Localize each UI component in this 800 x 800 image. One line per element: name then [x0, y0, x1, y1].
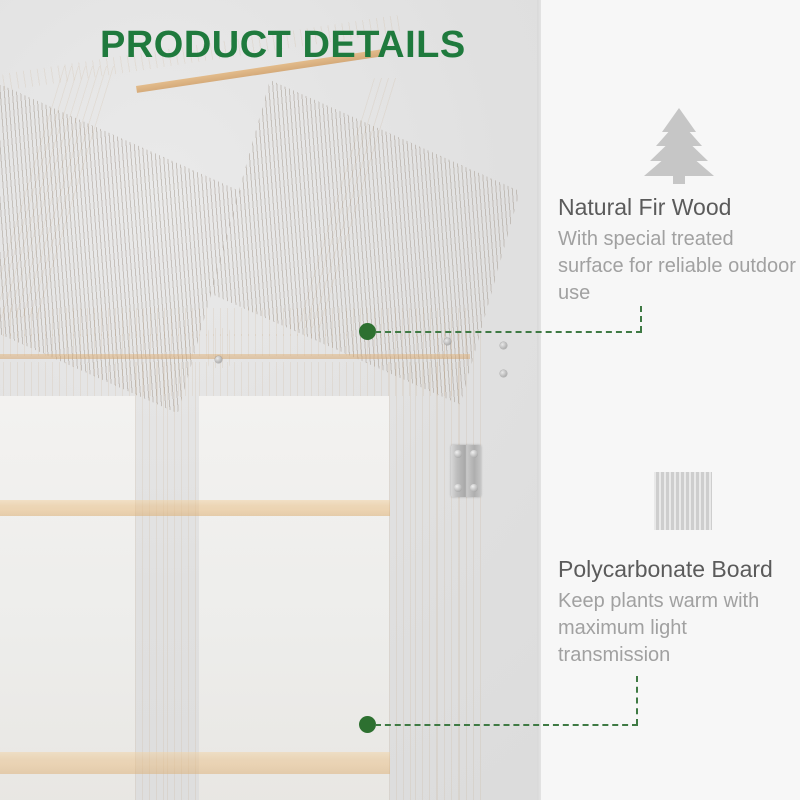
feature-icon-container	[558, 466, 798, 540]
frame-screw-upper	[500, 370, 507, 377]
door-glass-right	[199, 396, 389, 800]
product-details-infographic: PRODUCT DETAILS Natural Fir Wood With sp…	[0, 0, 800, 800]
door-stile-right-inner	[415, 362, 439, 800]
door-stile-center-right	[167, 362, 199, 800]
body-top-rail	[0, 334, 470, 356]
door-stile-right	[389, 362, 415, 800]
frame-screw-top	[500, 342, 507, 349]
interior-shelf-rail-lower	[0, 752, 390, 774]
corner-post-right-return	[459, 330, 481, 800]
callout-marker-wood	[359, 323, 376, 340]
feature-icon-container	[558, 104, 798, 178]
callout-leader-wood-horizontal	[375, 331, 642, 333]
door-hinge	[451, 445, 481, 497]
feature-title: Natural Fir Wood	[558, 192, 798, 222]
roof-glass-left	[0, 62, 240, 413]
callout-marker-board	[359, 716, 376, 733]
frame-screw-mid	[444, 338, 451, 345]
door-glass-left	[0, 396, 135, 800]
product-photo-panel	[0, 0, 537, 800]
interior-shelf-rail-upper	[0, 500, 390, 516]
greenhouse-roof	[0, 80, 537, 350]
polycarbonate-board-icon	[654, 472, 712, 530]
feature-block-polycarbonate-board: Polycarbonate Board Keep plants warm wit…	[558, 466, 798, 669]
feature-description: Keep plants warm with maximum light tran…	[558, 588, 798, 669]
callout-leader-board-vertical	[636, 676, 638, 725]
door-stile-center-left	[135, 362, 165, 800]
callout-leader-wood-vertical	[640, 306, 642, 332]
body-top-rail-shadow	[0, 354, 470, 359]
feature-description: With special treated surface for reliabl…	[558, 226, 798, 307]
callout-leader-board-horizontal	[375, 724, 638, 726]
fir-tree-icon	[642, 106, 716, 184]
greenhouse-product-image	[0, 80, 537, 800]
latch-screw	[215, 356, 222, 363]
feature-title: Polycarbonate Board	[558, 554, 798, 584]
page-title: PRODUCT DETAILS	[100, 24, 466, 67]
corner-post-right	[437, 330, 459, 800]
feature-block-natural-fir-wood: Natural Fir Wood With special treated su…	[558, 104, 798, 307]
